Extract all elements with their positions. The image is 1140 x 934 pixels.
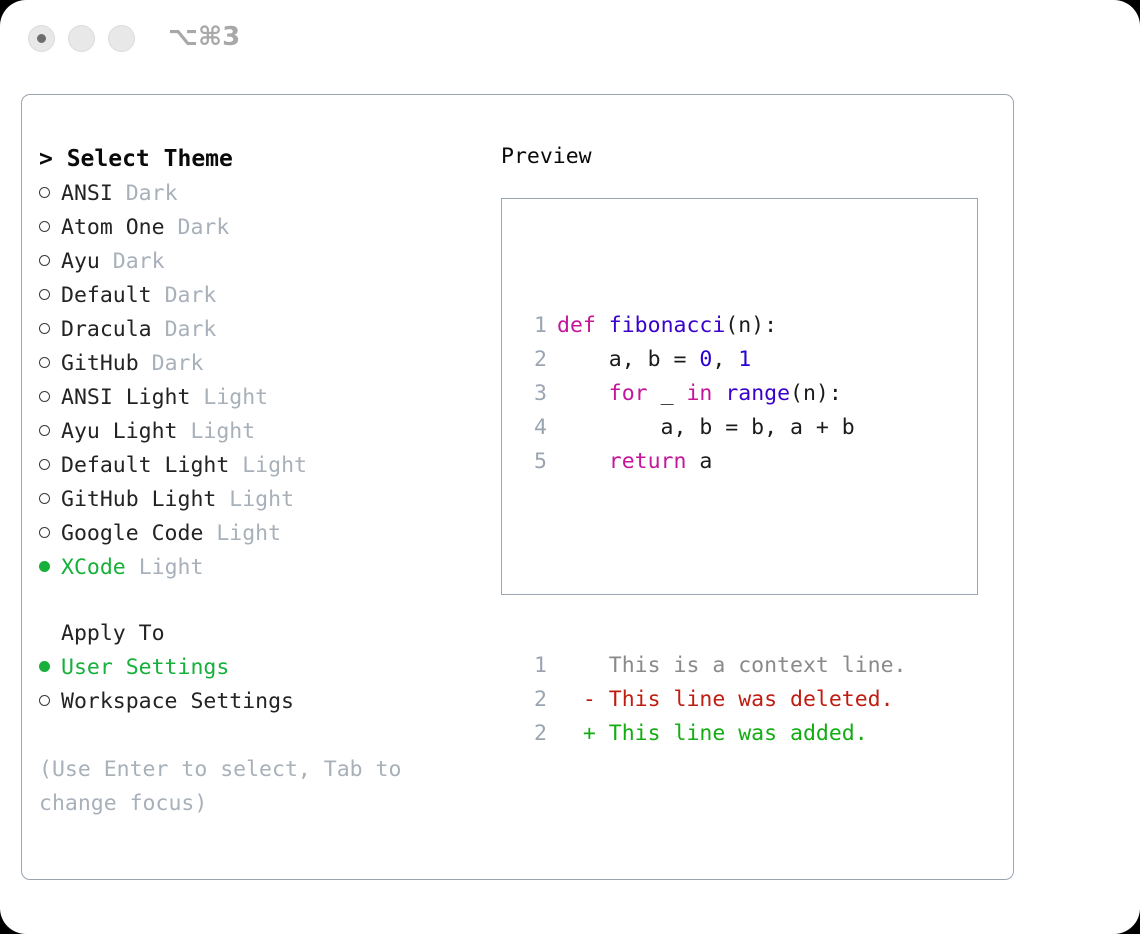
diff-marker: - [557,687,609,712]
theme-name: GitHub Light [61,487,216,512]
theme-variant-tag: Dark [165,317,217,342]
code-token-plain: (n): [725,313,777,338]
theme-list-item-default-light[interactable]: Default Light Light [39,449,479,483]
theme-selection-dialog: > Select Theme ANSI DarkAtom One DarkAyu… [21,94,1014,880]
apply-to-title: Apply To [39,617,479,651]
code-line: 4 a, b = b, a + b [521,411,907,445]
code-sample: 1def fibonacci(n):2 a, b = 0, 13 for _ i… [521,309,907,479]
code-token-fn: fibonacci [609,313,726,338]
theme-name: Atom One [61,215,165,240]
code-token-kw: in [686,381,712,406]
radio-unselected-icon[interactable] [39,357,50,368]
theme-name: Google Code [61,521,203,546]
theme-list-item-ayu[interactable]: Ayu Dark [39,245,479,279]
theme-name: ANSI [61,181,113,206]
theme-name: XCode [61,555,126,580]
code-token-plain [596,313,609,338]
apply-to-option-workspace-settings[interactable]: Workspace Settings [39,685,479,719]
theme-variant-tag: Light [190,419,255,444]
theme-list-item-default[interactable]: Default Dark [39,279,479,313]
radio-unselected-icon[interactable] [39,221,50,232]
code-diff-separator [521,547,907,581]
theme-variant-tag: Light [216,521,281,546]
radio-unselected-icon[interactable] [39,289,50,300]
code-token-plain: a [686,449,712,474]
recording-dot-core [37,34,46,43]
theme-variant-tag: Dark [152,351,204,376]
section-spacer [39,585,479,617]
theme-name: Default Light [61,453,229,478]
window-controls [28,25,135,52]
preview-box: 1def fibonacci(n):2 a, b = 0, 13 for _ i… [501,198,978,595]
line-number: 1 [521,649,547,683]
radio-unselected-icon[interactable] [39,255,50,266]
code-line: 1def fibonacci(n): [521,309,907,343]
theme-list-item-ansi[interactable]: ANSI Dark [39,177,479,211]
theme-name: Default [61,283,152,308]
line-number: 2 [521,717,547,751]
theme-variant-tag: Light [242,453,307,478]
radio-unselected-icon[interactable] [39,459,50,470]
theme-variant-tag: Dark [113,249,165,274]
theme-list-item-github[interactable]: GitHub Dark [39,347,479,381]
theme-variant-tag: Dark [178,215,230,240]
code-token-num: 1 [738,347,751,372]
diff-text: This line was deleted. [609,687,894,712]
diff-line-add: 2 + This line was added. [521,717,907,751]
radio-unselected-icon[interactable] [39,527,50,538]
diff-marker: + [557,721,609,746]
preview-title: Preview [501,141,1001,173]
theme-list-item-xcode[interactable]: XCode Light [39,551,479,585]
theme-list-item-github-light[interactable]: GitHub Light Light [39,483,479,517]
radio-unselected-icon[interactable] [39,425,50,436]
theme-name: GitHub [61,351,139,376]
diff-sample: 1 This is a context line.2 - This line w… [521,649,907,751]
theme-variant-tag: Dark [126,181,178,206]
diff-text: This is a context line. [609,653,907,678]
code-token-plain [712,381,725,406]
code-line: 3 for _ in range(n): [521,377,907,411]
code-token-plain [557,449,609,474]
keyboard-hint: (Use Enter to select, Tab to change focu… [39,753,449,821]
window-dot-2[interactable] [68,25,95,52]
radio-unselected-icon[interactable] [39,187,50,198]
theme-list: ANSI DarkAtom One DarkAyu DarkDefault Da… [39,177,479,585]
app-window: ⌥⌘3 > Select Theme ANSI DarkAtom One Dar… [0,0,1140,934]
apply-to-option-user-settings[interactable]: User Settings [39,651,479,685]
diff-line-ctx: 1 This is a context line. [521,649,907,683]
theme-list-item-atom-one[interactable]: Atom One Dark [39,211,479,245]
theme-name: Dracula [61,317,152,342]
apply-to-list: User SettingsWorkspace Settings [39,651,479,719]
theme-list-item-ansi-light[interactable]: ANSI Light Light [39,381,479,415]
code-token-plain: a, b = b, a + b [557,415,855,440]
line-number: 2 [521,343,547,377]
theme-list-item-dracula[interactable]: Dracula Dark [39,313,479,347]
theme-list-panel: > Select Theme ANSI DarkAtom One DarkAyu… [39,141,479,821]
code-token-kw: def [557,313,596,338]
line-number: 3 [521,377,547,411]
apply-to-label: Workspace Settings [61,689,294,714]
radio-unselected-icon[interactable] [39,695,50,706]
line-number: 2 [521,683,547,717]
radio-unselected-icon[interactable] [39,493,50,504]
window-dot-3[interactable] [108,25,135,52]
keyboard-shortcut-label: ⌥⌘3 [168,22,240,52]
code-token-fn: range [725,381,790,406]
code-token-plain: a, b = [557,347,699,372]
code-token-plain: , [712,347,738,372]
diff-marker [557,653,609,678]
theme-list-item-google-code[interactable]: Google Code Light [39,517,479,551]
recording-indicator-dot[interactable] [28,25,55,52]
theme-name: Ayu Light [61,419,178,444]
radio-selected-icon[interactable] [39,661,50,672]
radio-selected-icon[interactable] [39,561,50,572]
code-token-num: 0 [699,347,712,372]
theme-variant-tag: Light [139,555,204,580]
code-token-kw: return [609,449,687,474]
code-token-plain: (n): [790,381,842,406]
line-number: 4 [521,411,547,445]
theme-list-item-ayu-light[interactable]: Ayu Light Light [39,415,479,449]
theme-variant-tag: Dark [165,283,217,308]
code-token-plain [557,381,609,406]
theme-variant-tag: Light [229,487,294,512]
code-line: 5 return a [521,445,907,479]
diff-line-del: 2 - This line was deleted. [521,683,907,717]
dialog-columns: > Select Theme ANSI DarkAtom One DarkAyu… [22,95,1013,879]
radio-unselected-icon[interactable] [39,391,50,402]
code-token-plain: _ [648,381,687,406]
theme-name: Ayu [61,249,100,274]
code-token-kw: for [609,381,648,406]
radio-unselected-icon[interactable] [39,323,50,334]
preview-panel: Preview 1def fibonacci(n):2 a, b = 0, 13… [501,141,1001,595]
theme-name: ANSI Light [61,385,190,410]
code-line: 2 a, b = 0, 1 [521,343,907,377]
theme-list-header: > Select Theme [39,141,479,177]
title-bar: ⌥⌘3 [0,0,1140,78]
apply-to-label: User Settings [61,655,229,680]
line-number: 5 [521,445,547,479]
line-number: 1 [521,309,547,343]
theme-variant-tag: Light [203,385,268,410]
preview-code: 1def fibonacci(n):2 a, b = 0, 13 for _ i… [521,241,907,819]
diff-text: This line was added. [609,721,868,746]
